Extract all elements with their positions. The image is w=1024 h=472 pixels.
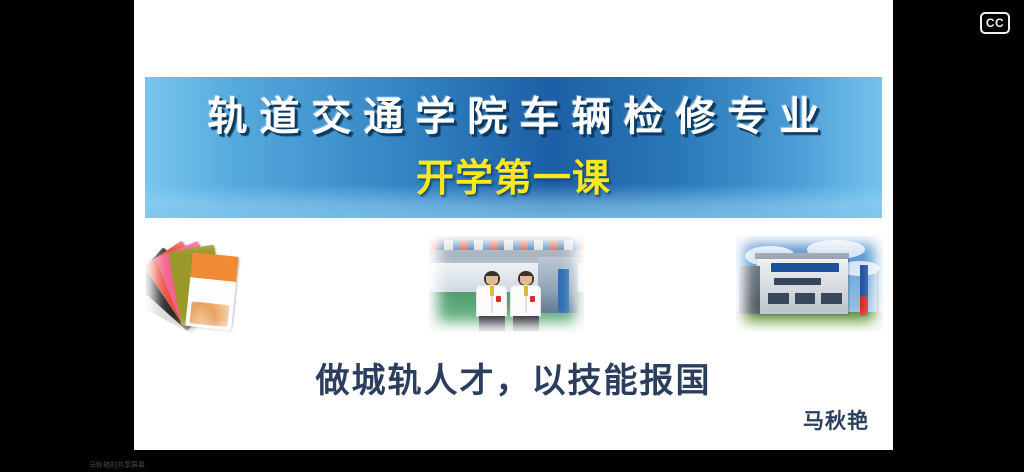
building-window (774, 278, 821, 286)
book-orange (185, 252, 238, 330)
student-head (518, 271, 534, 286)
student-lanyard (490, 286, 494, 296)
building-roof (755, 253, 849, 259)
student-lanyard (524, 286, 528, 296)
closed-caption-icon[interactable]: CC (980, 12, 1010, 34)
workshop-equipment-post (558, 269, 569, 313)
slide-title-banner: 轨道交通学院车辆检修专业 开学第一课 (145, 77, 882, 218)
student-right (510, 271, 543, 331)
building-side-block (739, 266, 760, 314)
screen-share-label: 马秋艳的共享屏幕 (89, 461, 145, 470)
student-left (476, 271, 509, 331)
lamp-post (877, 270, 879, 314)
slide-title-primary: 轨道交通学院车辆检修专业 (145, 93, 882, 141)
two-students-in-workshop-photo (429, 236, 584, 332)
student-trousers (513, 316, 539, 331)
stack-of-textbooks-photo (146, 230, 310, 338)
slide-slogan: 做城轨人才，以技能报国 (134, 360, 893, 402)
building-window (768, 293, 789, 304)
slide-photo-row (134, 228, 893, 346)
student-head (484, 271, 500, 286)
slide-title-secondary: 开学第一课 (145, 155, 882, 201)
building-window (821, 293, 842, 304)
student-trousers (479, 316, 505, 331)
student-badge (496, 296, 501, 303)
vertical-banner (860, 265, 869, 316)
rail-vehicle-training-center-building-photo (736, 236, 883, 331)
slide-presenter-name: 马秋艳 (803, 408, 869, 434)
student-badge (530, 296, 535, 303)
building-signboard (771, 263, 839, 273)
presentation-slide: 轨道交通学院车辆检修专业 开学第一课 (134, 0, 893, 450)
shared-screen-viewport: CC 马秋艳的共享屏幕 轨道交通学院车辆检修专业 开学第一课 (0, 0, 1024, 472)
building-window (795, 293, 816, 304)
workshop-overhead-pipes (429, 240, 584, 251)
